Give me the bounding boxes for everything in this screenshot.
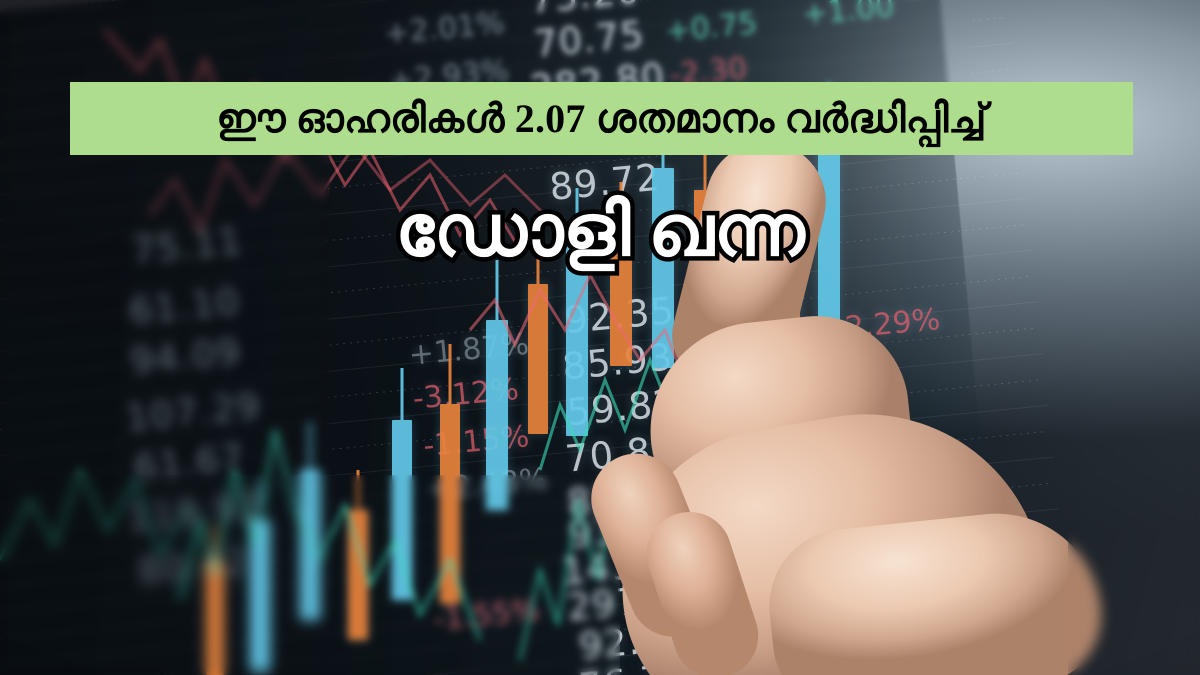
headline-text: ഈ ഓഹരികൾ 2.07 ശതമാനം വർദ്ധിപ്പിച്ച് [216,95,986,142]
subtitle-text: ഡോളി ഖന്ന [395,191,804,271]
news-thumbnail-image: 75.20 70.75 282.80 89.72 92.35 85.93 59.… [0,0,1200,675]
headline-banner: ഈ ഓഹരികൾ 2.07 ശതമാനം വർദ്ധിപ്പിച്ച് [70,82,1133,155]
subtitle-overlay: ഡോളി ഖന്ന [0,190,1200,274]
